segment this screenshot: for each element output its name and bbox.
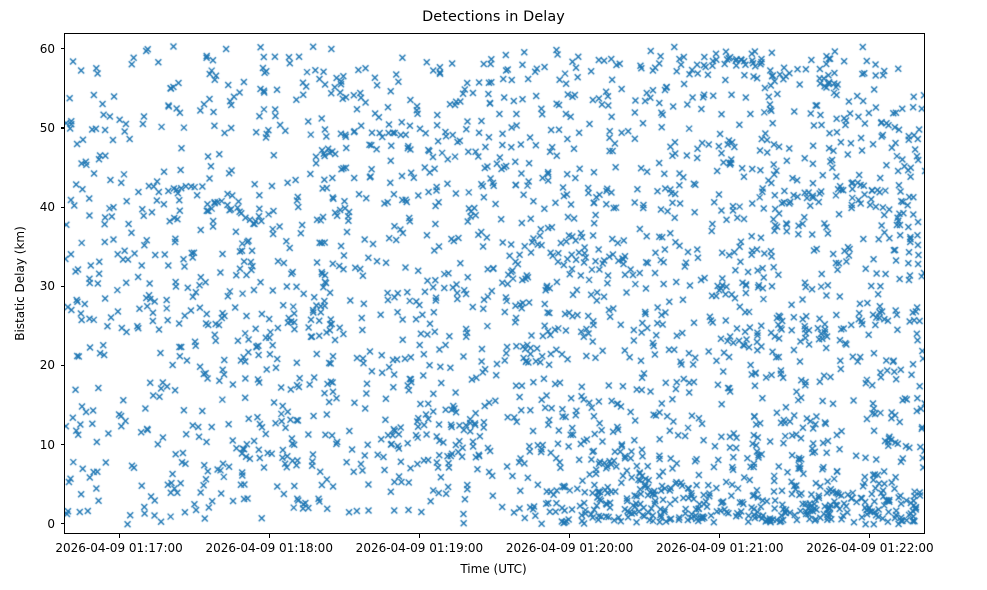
x-tick-label: 2026-04-09 01:21:00 xyxy=(656,541,783,555)
scatter-plot-canvas xyxy=(65,34,925,534)
y-tick-label: 60 xyxy=(40,42,55,56)
x-tick-label: 2026-04-09 01:19:00 xyxy=(356,541,483,555)
x-tick-mark xyxy=(119,534,120,538)
y-tick-mark xyxy=(61,127,65,128)
y-tick-mark xyxy=(61,286,65,287)
y-tick-label: 10 xyxy=(40,438,55,452)
x-tick-mark xyxy=(719,534,720,538)
plot-axes-area xyxy=(64,33,925,534)
x-tick-mark xyxy=(569,534,570,538)
y-tick-label: 50 xyxy=(40,121,55,135)
x-tick-mark xyxy=(269,534,270,538)
x-tick-mark xyxy=(419,534,420,538)
matplotlib-figure: Detections in Delay 0102030405060 2026-0… xyxy=(0,0,987,590)
x-tick-label: 2026-04-09 01:17:00 xyxy=(55,541,182,555)
y-tick-label: 0 xyxy=(47,517,55,531)
x-tick-mark xyxy=(869,534,870,538)
y-tick-mark xyxy=(61,523,65,524)
x-tick-label: 2026-04-09 01:18:00 xyxy=(206,541,333,555)
y-tick-mark xyxy=(61,48,65,49)
y-tick-mark xyxy=(61,444,65,445)
y-tick-label: 20 xyxy=(40,358,55,372)
y-tick-label: 40 xyxy=(40,200,55,214)
x-tick-label: 2026-04-09 01:22:00 xyxy=(806,541,933,555)
y-axis-label: Bistatic Delay (km) xyxy=(10,33,30,534)
x-axis-label: Time (UTC) xyxy=(0,562,987,576)
page-title: Detections in Delay xyxy=(0,9,987,25)
x-tick-label: 2026-04-09 01:20:00 xyxy=(506,541,633,555)
y-tick-label: 30 xyxy=(40,279,55,293)
y-tick-mark xyxy=(61,207,65,208)
y-tick-mark xyxy=(61,365,65,366)
